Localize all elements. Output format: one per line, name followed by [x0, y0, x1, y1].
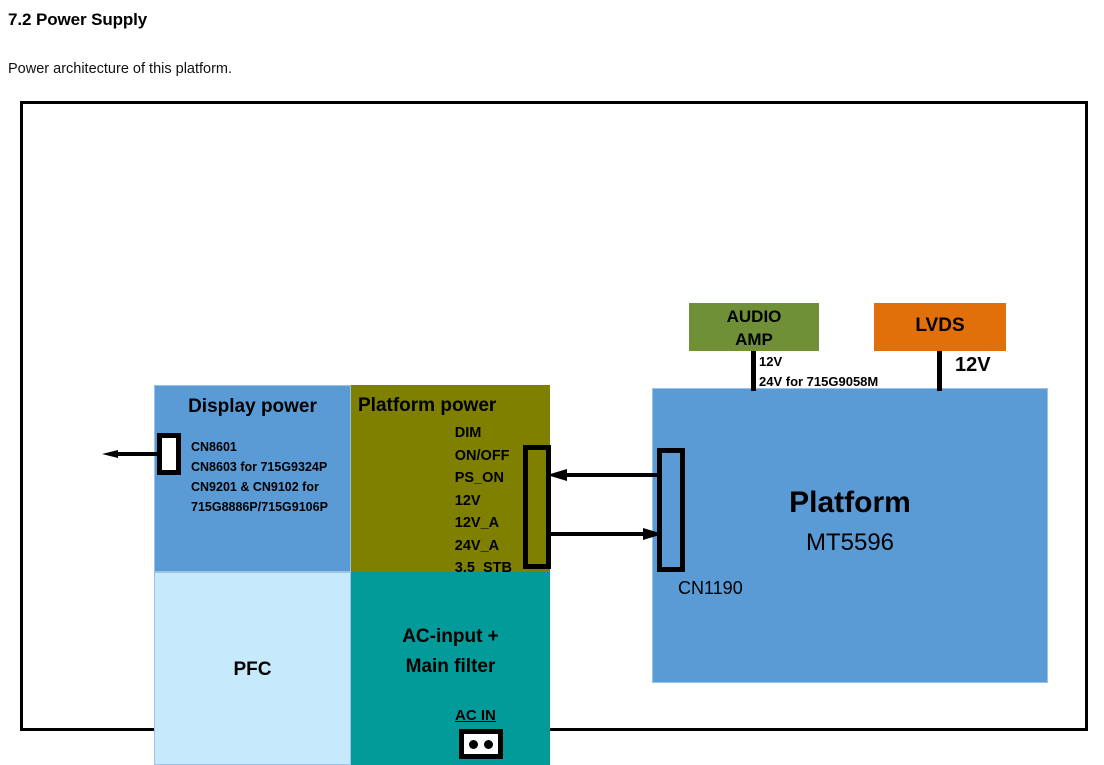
display-output-arrow-icon: [102, 450, 162, 458]
display-power-title: Display power: [155, 396, 350, 418]
ac-input-main-filter-block: AC-input + Main filter AC IN: [351, 572, 550, 765]
audio-amp-power-wire: [751, 351, 756, 391]
ac-filter-line-1: AC-input +: [351, 622, 550, 652]
rail-ps-on: PS_ON: [455, 467, 512, 490]
platform-power-title: Platform power: [358, 395, 496, 417]
display-power-block: Display power CN8601 CN8603 for 715G9324…: [154, 385, 351, 572]
lvds-block: LVDS: [874, 303, 1006, 351]
cn1190-connector: [657, 448, 685, 572]
cn1190-label: CN1190: [678, 578, 743, 599]
lvds-power-wire: [937, 351, 942, 391]
display-power-note-3: 715G8886P/715G9106P: [191, 497, 351, 517]
page-subtitle: Power architecture of this platform.: [8, 61, 232, 77]
power-supply-side-connector: [523, 445, 551, 569]
ac-pin-left: [469, 740, 478, 749]
audio-amp-rail-24v: 24V for 715G9058M: [759, 374, 878, 389]
audio-amp-line-2: AMP: [689, 328, 819, 351]
arrow-power-supply-to-platform-icon: [547, 528, 663, 540]
platform-power-rail-list: DIM ON/OFF PS_ON 12V 12V_A 24V_A 3.5_STB: [455, 422, 512, 580]
ac-input-main-filter-label: AC-input + Main filter: [351, 622, 550, 682]
display-output-connector: [157, 433, 181, 475]
display-power-note-1: CN8603 for 715G9324P: [191, 457, 351, 477]
rail-12v: 12V: [455, 490, 512, 513]
rail-on-off: ON/OFF: [455, 445, 512, 468]
ac-in-label: AC IN: [455, 707, 496, 724]
rail-12v-a: 12V_A: [455, 512, 512, 535]
display-power-note-0: CN8601: [191, 437, 351, 457]
ac-pin-right: [484, 740, 493, 749]
rail-24v-a: 24V_A: [455, 535, 512, 558]
audio-amp-line-1: AUDIO: [689, 305, 819, 328]
pfc-block: PFC: [154, 572, 351, 765]
platform-power-block: Platform power DIM ON/OFF PS_ON 12V 12V_…: [351, 385, 550, 572]
rail-dim: DIM: [455, 422, 512, 445]
page-title: 7.2 Power Supply: [8, 10, 147, 30]
ac-in-connector-icon: [459, 729, 503, 759]
display-power-connector-notes: CN8601 CN8603 for 715G9324P CN9201 & CN9…: [191, 437, 351, 517]
audio-amp-rail-12v: 12V: [759, 354, 782, 369]
platform-chip-model: MT5596: [653, 529, 1047, 557]
platform-name: Platform: [653, 486, 1047, 520]
pfc-label: PFC: [155, 659, 350, 681]
arrow-platform-to-power-supply-icon: [547, 469, 663, 481]
platform-block: Platform MT5596: [652, 388, 1048, 683]
audio-amp-block: AUDIO AMP: [689, 303, 819, 351]
ac-filter-line-2: Main filter: [351, 652, 550, 682]
display-power-note-2: CN9201 & CN9102 for: [191, 477, 351, 497]
power-architecture-diagram: Display power CN8601 CN8603 for 715G9324…: [20, 101, 1088, 731]
lvds-rail-12v: 12V: [955, 354, 991, 377]
